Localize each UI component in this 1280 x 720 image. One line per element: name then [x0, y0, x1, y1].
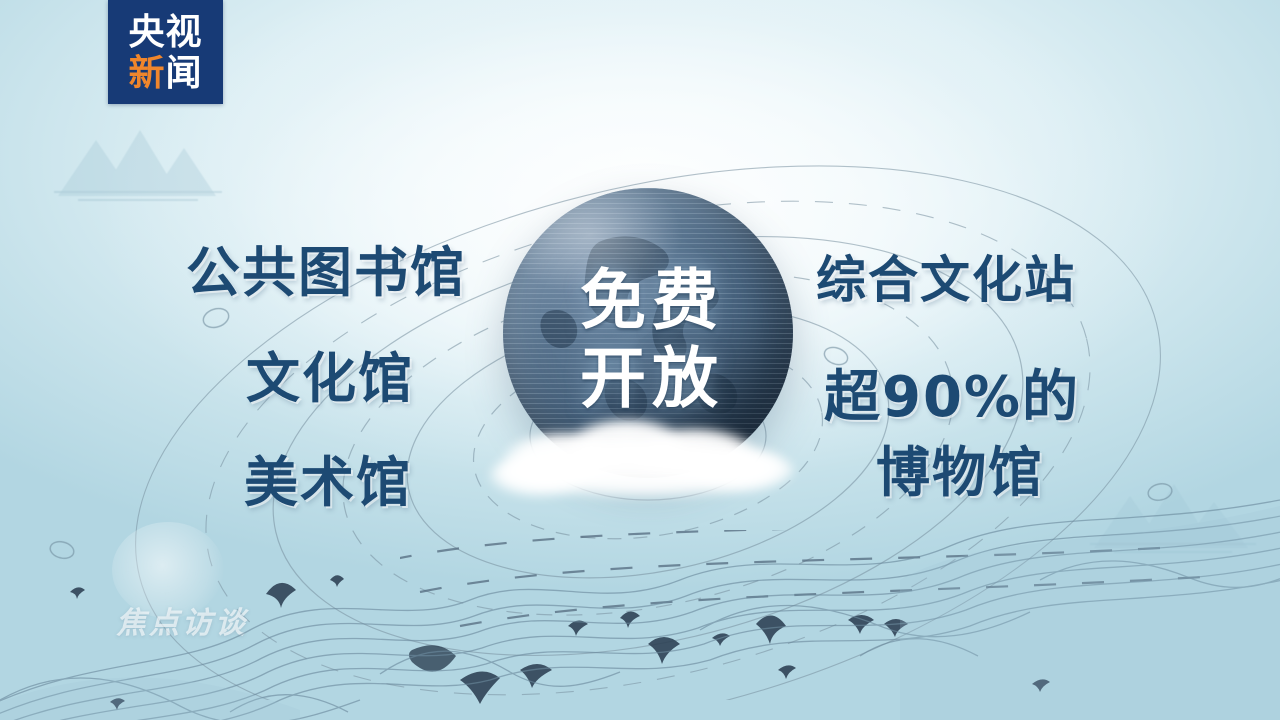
center-headline: 免费 开放: [560, 262, 744, 418]
logo-char-wen: 闻: [166, 53, 203, 94]
contour-mountain-icon: [0, 460, 1280, 720]
center-headline-line-2: 开放: [560, 340, 744, 418]
center-headline-line-1: 免费: [560, 262, 744, 340]
keyword-culture-center: 文化馆: [246, 334, 414, 413]
keyword-public-library: 公共图书馆: [186, 228, 466, 307]
cctv-news-logo: 央视 新闻: [108, 0, 223, 104]
keyword-integrated-culture-station: 综合文化站: [816, 240, 1076, 312]
logo-line-2: 新闻: [128, 54, 202, 94]
logo-char-xin: 新: [128, 53, 165, 94]
logo-line-1: 央视: [128, 13, 202, 53]
broadcast-graphic-stage: 公共图书馆 文化馆 美术馆 综合文化站 超90%的 博物馆 免费 开放: [0, 0, 1280, 720]
keyword-over-90-percent: 超90%的: [824, 352, 1080, 433]
